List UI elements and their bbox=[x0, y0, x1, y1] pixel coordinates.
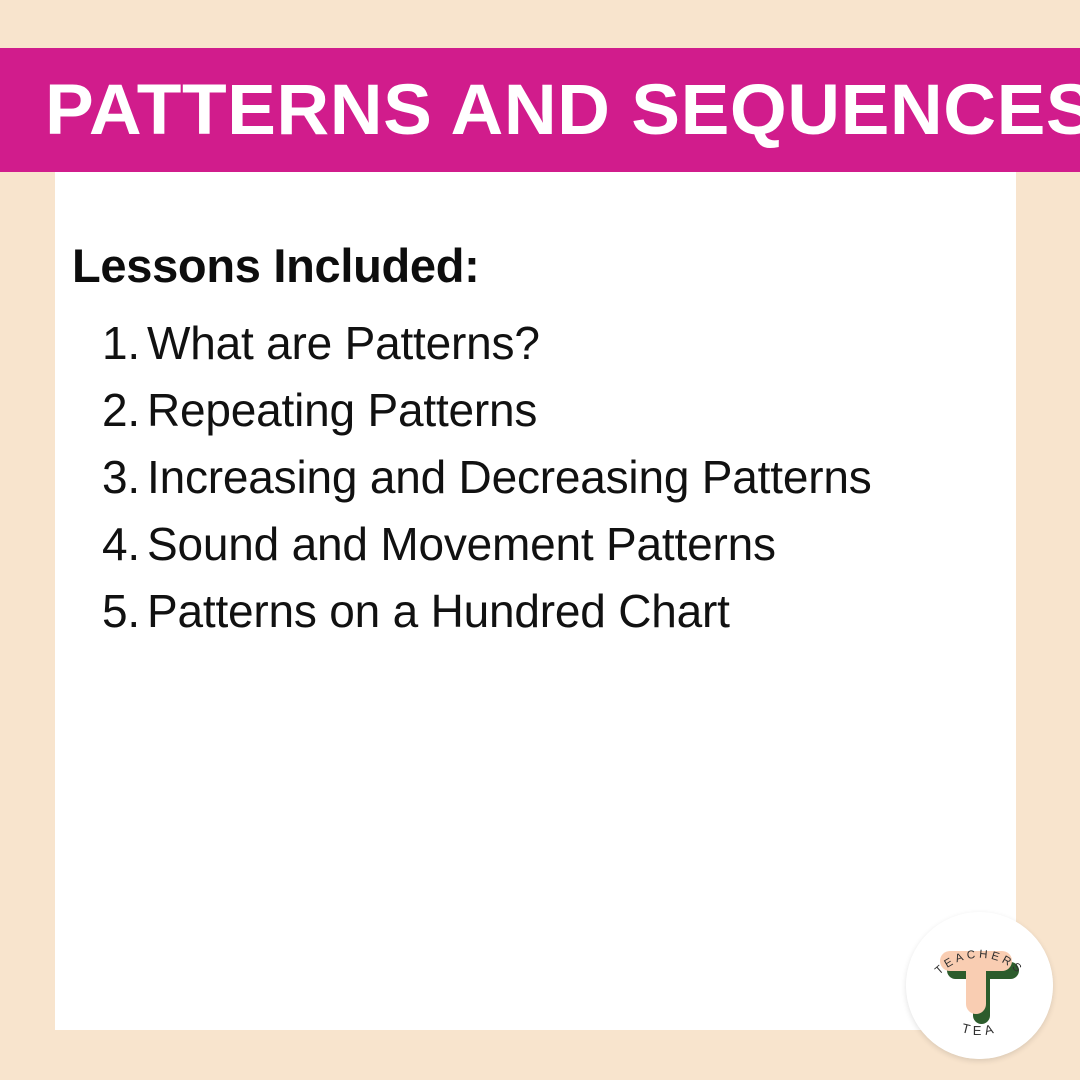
content-card: Lessons Included: 1. What are Patterns? … bbox=[55, 172, 1016, 1030]
list-item-number: 2. bbox=[102, 377, 147, 444]
lessons-included-heading: Lessons Included: bbox=[72, 242, 480, 289]
page-title: PATTERNS AND SEQUENCES bbox=[45, 75, 1080, 146]
list-item: 3. Increasing and Decreasing Patterns bbox=[102, 444, 1002, 511]
list-item: 1. What are Patterns? bbox=[102, 310, 1002, 377]
list-item-label: What are Patterns? bbox=[147, 310, 540, 377]
list-item: 4. Sound and Movement Patterns bbox=[102, 511, 1002, 578]
list-item-label: Patterns on a Hundred Chart bbox=[147, 578, 730, 645]
title-banner: PATTERNS AND SEQUENCES bbox=[0, 48, 1080, 172]
list-item: 2. Repeating Patterns bbox=[102, 377, 1002, 444]
logo-bottom-text: TEA bbox=[960, 1020, 998, 1038]
list-item-number: 1. bbox=[102, 310, 147, 377]
list-item-number: 4. bbox=[102, 511, 147, 578]
list-item-label: Repeating Patterns bbox=[147, 377, 537, 444]
list-item-number: 3. bbox=[102, 444, 147, 511]
list-item-number: 5. bbox=[102, 578, 147, 645]
list-item-label: Sound and Movement Patterns bbox=[147, 511, 776, 578]
teachers-tea-logo: TEACHERS TEA bbox=[906, 912, 1053, 1059]
lessons-list: 1. What are Patterns? 2. Repeating Patte… bbox=[102, 310, 1002, 645]
list-item-label: Increasing and Decreasing Patterns bbox=[147, 444, 872, 511]
list-item: 5. Patterns on a Hundred Chart bbox=[102, 578, 1002, 645]
slide-canvas: PATTERNS AND SEQUENCES Lessons Included:… bbox=[0, 0, 1080, 1080]
